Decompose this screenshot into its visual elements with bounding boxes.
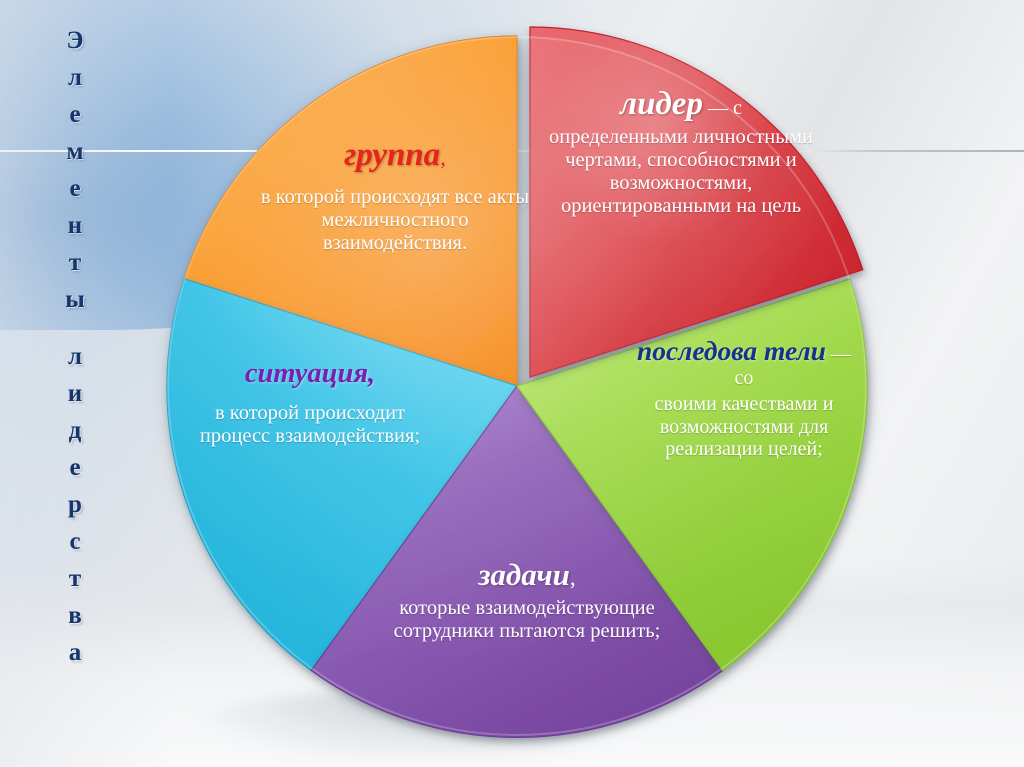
page-title-char-7: ы [44, 281, 106, 318]
slide-canvas: Элементы лидерства [0, 0, 1024, 767]
pie-slices-svg [146, 8, 888, 750]
page-title-char-17: а [44, 634, 106, 671]
page-title-char-4: е [44, 170, 106, 207]
page-title-char-1: л [44, 59, 106, 96]
page-title-char-11: д [44, 412, 106, 449]
page-title-char-13: р [44, 486, 106, 523]
page-title-char-10: и [44, 375, 106, 412]
pie-chart [146, 8, 888, 750]
pie-gloss-overlay [167, 36, 867, 736]
page-title-char-12: е [44, 449, 106, 486]
page-title-char-3: м [44, 133, 106, 170]
page-title-char-2: е [44, 96, 106, 133]
page-title-space [44, 318, 106, 338]
page-title-char-6: т [44, 244, 106, 281]
page-title-char-0: Э [44, 22, 106, 59]
page-title-char-16: в [44, 597, 106, 634]
page-title-char-15: т [44, 560, 106, 597]
page-title-char-14: с [44, 523, 106, 560]
page-title-char-9: л [44, 338, 106, 375]
page-title: Элементы лидерства [44, 22, 106, 671]
page-title-char-5: н [44, 207, 106, 244]
